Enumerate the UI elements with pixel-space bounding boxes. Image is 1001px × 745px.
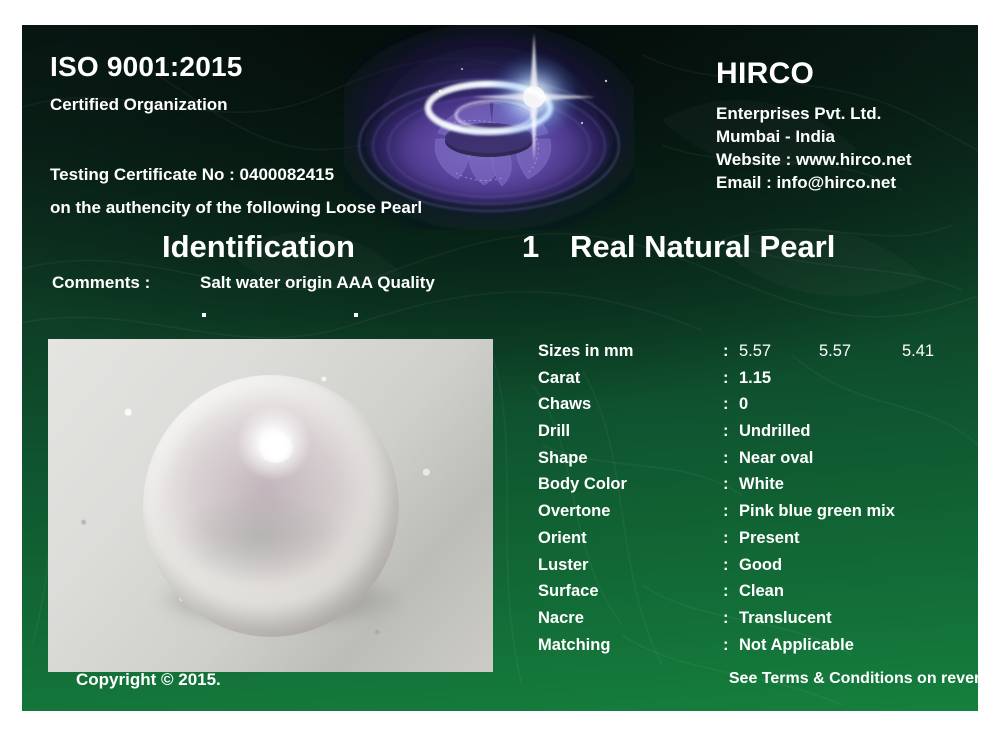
certificate-number: Testing Certificate No : 0400082415 — [50, 165, 334, 185]
spec-key: Carat — [538, 369, 580, 388]
spec-key: Chaws — [538, 395, 591, 414]
spec-key: Orient — [538, 529, 587, 548]
spec-colon: : — [723, 636, 729, 655]
spec-colon: : — [723, 342, 729, 361]
spec-value: 1.15 — [739, 369, 771, 388]
pearl-photograph — [48, 339, 493, 672]
spec-value: Present — [739, 529, 800, 548]
comments-value: Salt water origin AAA Quality — [200, 273, 435, 293]
pearl-highlight — [259, 433, 293, 463]
authenticity-line: on the authencity of the following Loose… — [50, 198, 422, 218]
table-row: Matching : Not Applicable — [538, 636, 968, 663]
company-website: Website : www.hirco.net — [716, 148, 912, 171]
spec-key: Surface — [538, 582, 599, 601]
company-line-2: Mumbai - India — [716, 125, 835, 148]
spec-colon: : — [723, 369, 729, 388]
identification-number: 1 — [522, 229, 539, 265]
table-row: Orient : Present — [538, 529, 968, 556]
spec-key: Sizes in mm — [538, 342, 633, 361]
spec-colon: : — [723, 582, 729, 601]
spec-colon: : — [723, 609, 729, 628]
comments-dot-right — [354, 313, 358, 317]
table-row: Shape : Near oval — [538, 449, 968, 476]
table-row: Luster : Good — [538, 556, 968, 583]
spec-key: Drill — [538, 422, 570, 441]
spec-colon: : — [723, 449, 729, 468]
spec-value-c: 5.41 — [902, 342, 934, 361]
table-row: Chaws : 0 — [538, 395, 968, 422]
spec-colon: : — [723, 529, 729, 548]
spec-key: Overtone — [538, 502, 610, 521]
specification-table: Sizes in mm : 5.57 5.57 5.41 Carat : 1.1… — [538, 342, 968, 662]
table-row: Nacre : Translucent — [538, 609, 968, 636]
spec-colon: : — [723, 395, 729, 414]
spec-value: Clean — [739, 582, 784, 601]
spec-value: Translucent — [739, 609, 832, 628]
spec-value: Near oval — [739, 449, 813, 468]
pearl-sphere — [143, 375, 399, 637]
spec-value: 0 — [739, 395, 748, 414]
company-line-1: Enterprises Pvt. Ltd. — [716, 102, 881, 125]
spec-colon: : — [723, 422, 729, 441]
spec-key: Nacre — [538, 609, 584, 628]
spec-value: Good — [739, 556, 782, 575]
comments-label: Comments : — [52, 273, 150, 293]
certificate-card: ISO 9001:2015 Certified Organization Tes… — [22, 25, 978, 711]
spec-key: Shape — [538, 449, 588, 468]
company-name: HIRCO — [716, 57, 814, 91]
comments-dot-left — [202, 313, 206, 317]
spec-colon: : — [723, 502, 729, 521]
spec-value-b: 5.57 — [819, 342, 851, 361]
spec-value: 5.57 — [739, 342, 771, 361]
table-row: Sizes in mm : 5.57 5.57 5.41 — [538, 342, 968, 369]
iso-title: ISO 9001:2015 — [50, 51, 243, 83]
spec-value: Undrilled — [739, 422, 811, 441]
spec-colon: : — [723, 556, 729, 575]
copyright-notice: Copyright © 2015. — [76, 670, 221, 690]
spec-value: Pink blue green mix — [739, 502, 895, 521]
spec-colon: : — [723, 475, 729, 494]
table-row: Carat : 1.15 — [538, 369, 968, 396]
identification-value: Real Natural Pearl — [570, 229, 835, 265]
company-email: Email : info@hirco.net — [716, 171, 896, 194]
spec-value: White — [739, 475, 784, 494]
iso-subtitle: Certified Organization — [50, 95, 228, 115]
identification-heading: Identification — [162, 229, 355, 265]
table-row: Body Color : White — [538, 475, 968, 502]
table-row: Surface : Clean — [538, 582, 968, 609]
spec-key: Body Color — [538, 475, 627, 494]
spec-key: Matching — [538, 636, 610, 655]
terms-and-conditions-note: See Terms & Conditions on reverse — [538, 670, 978, 688]
spec-key: Luster — [538, 556, 588, 575]
table-row: Drill : Undrilled — [538, 422, 968, 449]
spec-value: Not Applicable — [739, 636, 854, 655]
table-row: Overtone : Pink blue green mix — [538, 502, 968, 529]
